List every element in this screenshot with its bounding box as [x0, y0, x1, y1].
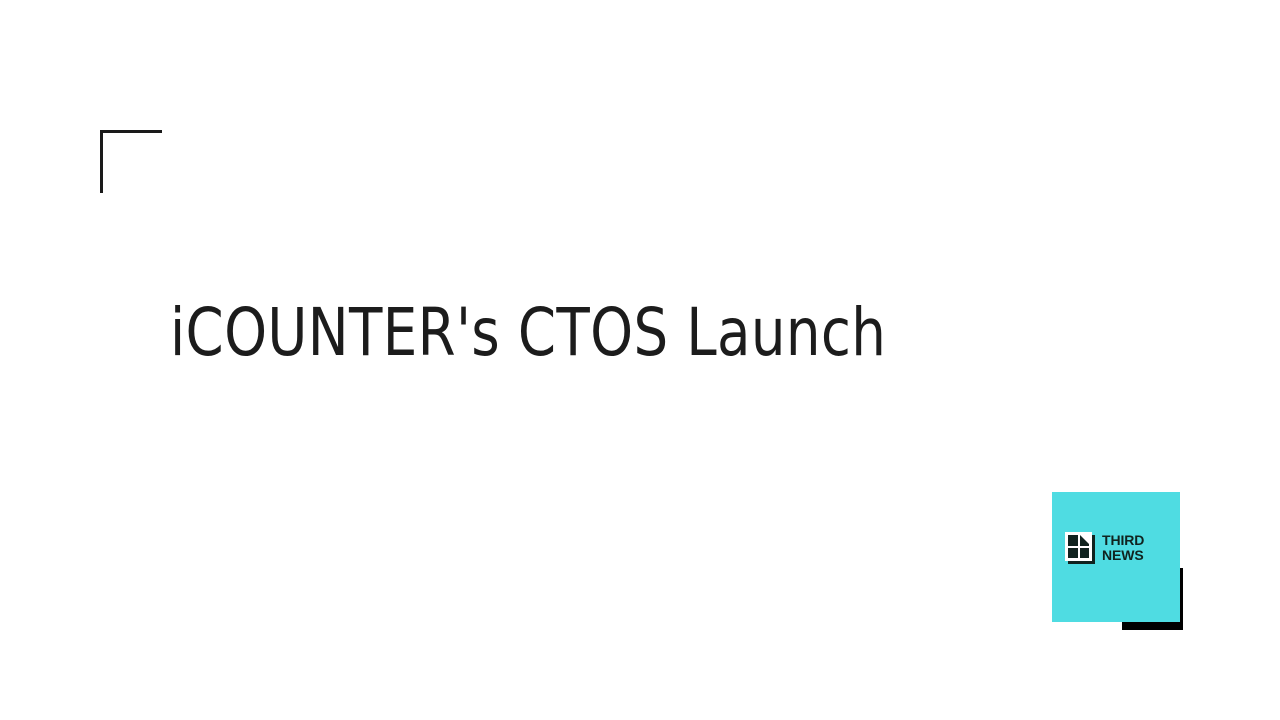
logo-shadow-bottom: [1122, 622, 1183, 630]
logo-badge: THIRD NEWS: [1052, 492, 1180, 622]
page-title: iCOUNTER's CTOS Launch: [170, 296, 1053, 370]
slide-canvas: iCOUNTER's CTOS Launch THIRD NEWS: [0, 0, 1280, 720]
logo-lockup: THIRD NEWS: [1065, 532, 1144, 564]
logo-wordmark-line-2: NEWS: [1102, 548, 1144, 563]
logo-background-square: THIRD NEWS: [1052, 492, 1180, 622]
logo-wordmark-line-1: THIRD: [1102, 533, 1144, 548]
logo-wordmark: THIRD NEWS: [1102, 533, 1144, 562]
newspaper-icon-face: [1065, 532, 1092, 561]
corner-bracket-decoration: [100, 130, 162, 193]
newspaper-icon: [1065, 532, 1095, 564]
